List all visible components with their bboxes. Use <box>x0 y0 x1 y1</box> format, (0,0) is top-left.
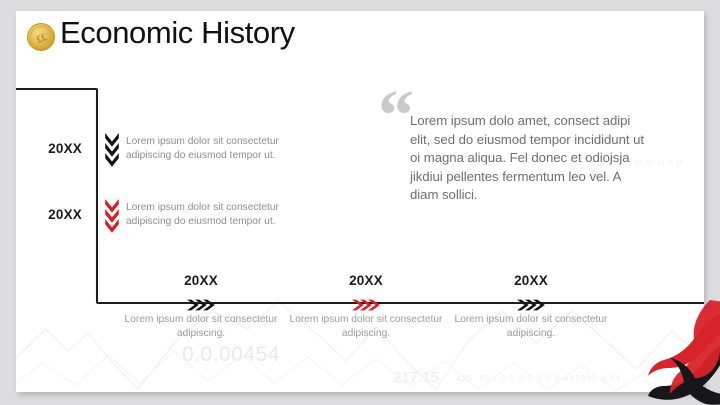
milestone-description-2: Lorem ipsum dolor sit consectetur adipis… <box>281 313 451 341</box>
quote-text: Lorem ipsum dolo amet, consect adipi eli… <box>410 112 652 205</box>
timeline-row-1[interactable]: 20XX Lorem ipsum dolor sit consectetur a… <box>30 135 330 169</box>
presentation-slide: 0.0.00454 217.15 435. 00 l 5 0 5l5 8 5 8… <box>16 11 704 392</box>
milestone-year-1: 20XX <box>116 273 286 288</box>
chevron-right-triple-icon <box>351 298 381 312</box>
milestone-year-2: 20XX <box>281 273 451 288</box>
milestone-description-1: Lorem ipsum dolor sit consectetur adipis… <box>116 313 286 341</box>
chevron-down-triple-icon <box>103 197 121 237</box>
milestone-year-3: 20XX <box>446 273 616 288</box>
timeline-row-2[interactable]: 20XX Lorem ipsum dolor sit consectetur a… <box>30 201 330 235</box>
timeline-description-1: Lorem ipsum dolor sit consectetur adipis… <box>126 135 322 163</box>
quote-mark-icon: “ <box>378 89 414 141</box>
milestone-description-3: Lorem ipsum dolor sit consectetur adipis… <box>446 313 616 341</box>
chevron-right-triple-icon <box>516 298 546 312</box>
screenshot-canvas: 0.0.00454 217.15 435. 00 l 5 0 5l5 8 5 8… <box>0 0 720 405</box>
timeline-description-2: Lorem ipsum dolor sit consectetur adipis… <box>126 201 322 229</box>
timeline-year-1: 20XX <box>30 141 82 156</box>
timeline-year-2: 20XX <box>30 207 82 222</box>
chevron-down-triple-icon <box>103 131 121 171</box>
chevron-right-triple-icon <box>186 298 216 312</box>
